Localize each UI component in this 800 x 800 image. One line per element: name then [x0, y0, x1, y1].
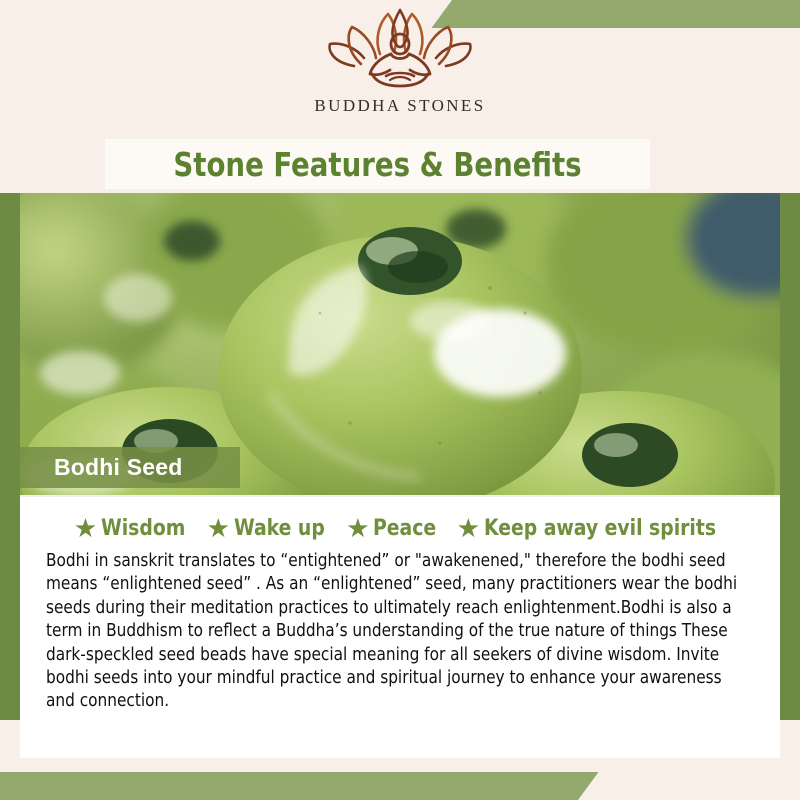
- benefit-label: Wisdom: [101, 516, 185, 541]
- benefit-item: Keep away evil spirits: [458, 516, 728, 541]
- product-feature-banner: BUDDHA STONES Stone Features & Benefits: [0, 0, 800, 800]
- benefit-item: Wisdom: [75, 516, 190, 541]
- brand-header: BUDDHA STONES: [0, 0, 800, 112]
- border-strip-right: [780, 193, 800, 720]
- photo-caption-banner: Bodhi Seed: [20, 447, 240, 488]
- benefit-item: Wake up: [208, 516, 330, 541]
- benefit-item: Peace: [347, 516, 439, 541]
- border-strip-left: [0, 193, 20, 720]
- content-panel: Wisdom Wake up Peace Keep away evil spir…: [20, 497, 780, 758]
- star-icon: [208, 518, 229, 539]
- lotus-meditation-figure-icon: [324, 4, 476, 95]
- section-title-band: Stone Features & Benefits: [105, 139, 650, 189]
- benefit-label: Keep away evil spirits: [484, 516, 716, 541]
- brand-name: BUDDHA STONES: [314, 96, 485, 116]
- photo-caption-label: Bodhi Seed: [54, 454, 183, 481]
- description-paragraph: Bodhi in sanskrit translates to “entight…: [46, 550, 740, 714]
- decorative-band-bottom-left: [0, 770, 600, 800]
- benefit-label: Peace: [373, 516, 436, 541]
- star-icon: [347, 518, 368, 539]
- benefit-label: Wake up: [234, 516, 325, 541]
- page-title: Stone Features & Benefits: [173, 145, 581, 184]
- star-icon: [458, 518, 479, 539]
- star-icon: [75, 518, 96, 539]
- benefits-row: Wisdom Wake up Peace Keep away evil spir…: [20, 497, 780, 541]
